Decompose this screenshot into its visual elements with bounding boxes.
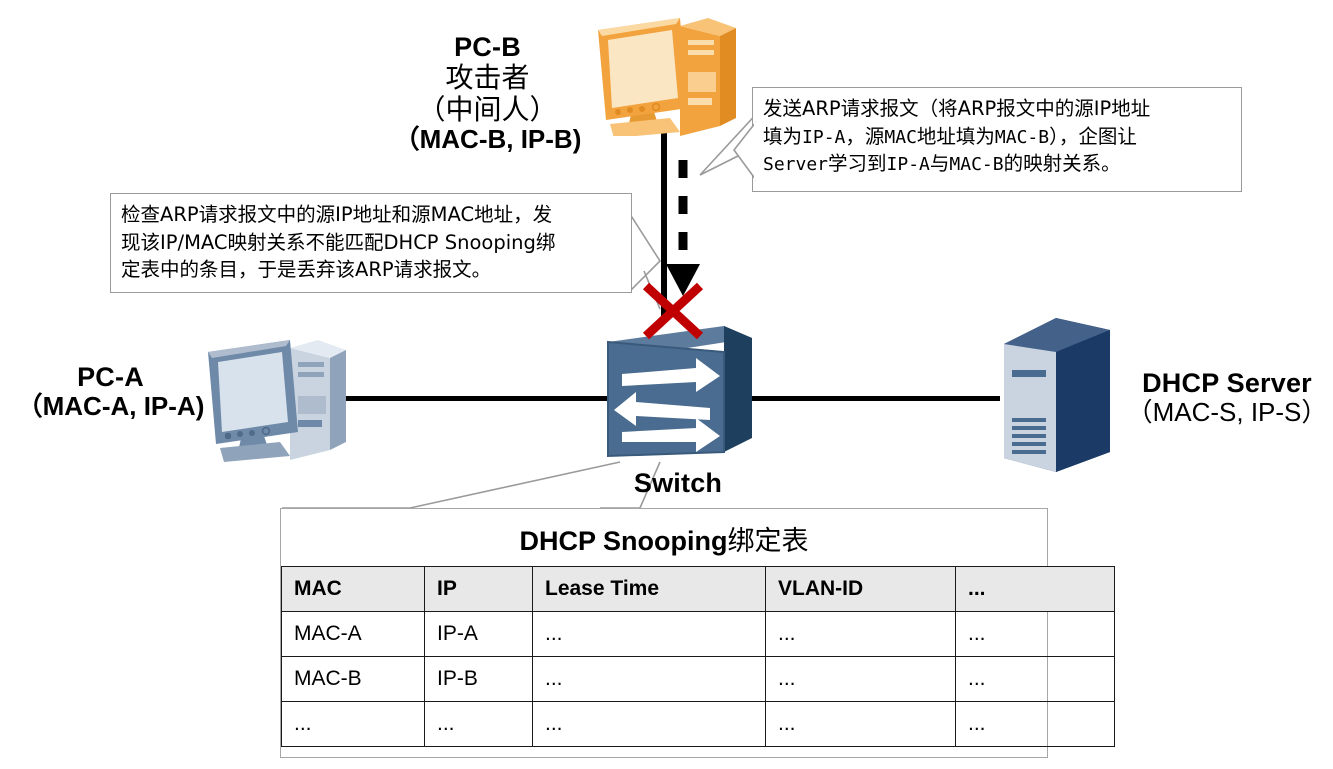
binding-table-title-main: DHCP Snooping (520, 526, 728, 556)
cell-ip: IP-A (425, 612, 533, 657)
table-row: MAC-A IP-A ... ... ... (282, 612, 1115, 657)
switch-label: Switch (598, 468, 758, 498)
cell-more: ... (956, 612, 1115, 657)
column-header-vlan-id: VLAN-ID (766, 567, 956, 612)
pc-a-label: PC-A （MAC-A, IP-A) (8, 362, 213, 421)
cell-mac: ... (282, 702, 425, 747)
pc-b-role: 攻击者 (380, 62, 595, 93)
pc-a-computer-icon (196, 334, 346, 462)
pc-b-label: PC-B 攻击者 （中间人） （MAC-B, IP-B) (380, 32, 595, 154)
table-row: ... ... ... ... ... (282, 702, 1115, 747)
pc-b-addresses: （MAC-B, IP-B) (380, 125, 595, 154)
cell-vlan: ... (766, 612, 956, 657)
cell-vlan: ... (766, 702, 956, 747)
dhcp-server-name: DHCP Server (1122, 368, 1332, 398)
cell-ip: ... (425, 702, 533, 747)
switch-device-icon (600, 312, 756, 464)
network-diagram-canvas: PC-B 攻击者 （中间人） （MAC-B, IP-B) PC-A （MAC-A… (0, 0, 1333, 769)
leader-table-left (282, 462, 620, 508)
check-line-1: 检查ARP请求报文中的源IP地址和源MAC地址，发 (121, 201, 622, 229)
table-row: MAC-B IP-B ... ... ... (282, 657, 1115, 702)
column-header-mac: MAC (282, 567, 425, 612)
cable-pca-to-switch (330, 396, 620, 401)
dhcp-snooping-binding-table: MAC IP Lease Time VLAN-ID ... MAC-A IP-A… (281, 566, 1115, 747)
cell-more: ... (956, 702, 1115, 747)
arp-attack-line-1: 发送ARP请求报文（将ARP报文中的源IP地址 (763, 95, 1232, 123)
pc-b-computer-icon (588, 14, 736, 136)
column-header-lease: Lease Time (533, 567, 766, 612)
column-header-ip: IP (425, 567, 533, 612)
dashed-attack-arrow-head (666, 264, 700, 296)
pc-a-addresses: （MAC-A, IP-A) (8, 392, 213, 421)
dhcp-snooping-binding-table-panel: DHCP Snooping绑定表 MAC IP Lease Time VLAN-… (280, 508, 1048, 758)
binding-table-title: DHCP Snooping绑定表 (281, 509, 1047, 566)
cell-lease: ... (533, 702, 766, 747)
cell-lease: ... (533, 657, 766, 702)
table-header-row: MAC IP Lease Time VLAN-ID ... (282, 567, 1115, 612)
arp-attack-line-2: 填为IP-A，源MAC地址填为MAC-B），企图让 (763, 123, 1232, 151)
cell-vlan: ... (766, 657, 956, 702)
cable-switch-to-server (752, 396, 1000, 401)
arp-attack-callout: 发送ARP请求报文（将ARP报文中的源IP地址 填为IP-A，源MAC地址填为M… (752, 87, 1242, 192)
check-line-2: 现该IP/MAC映射关系不能匹配DHCP Snooping绑 (121, 229, 622, 257)
dhcp-server-icon (994, 300, 1114, 472)
cell-mac: MAC-A (282, 612, 425, 657)
arp-attack-line-3: Server学习到IP-A与MAC-B的映射关系。 (763, 150, 1232, 178)
arp-attack-callout-tail (732, 120, 758, 182)
pc-a-name: PC-A (8, 362, 213, 392)
pc-b-name: PC-B (380, 32, 595, 62)
pc-b-role-detail: （中间人） (380, 94, 595, 125)
cell-ip: IP-B (425, 657, 533, 702)
cell-mac: MAC-B (282, 657, 425, 702)
dhcp-snooping-check-callout: 检查ARP请求报文中的源IP地址和源MAC地址，发 现该IP/MAC映射关系不能… (110, 193, 632, 293)
column-header-more: ... (956, 567, 1115, 612)
cell-lease: ... (533, 612, 766, 657)
dhcp-server-label: DHCP Server （MAC-S, IP-S） (1122, 368, 1332, 427)
cell-more: ... (956, 657, 1115, 702)
dhcp-server-addresses: （MAC-S, IP-S） (1122, 398, 1332, 427)
check-line-3: 定表中的条目，于是丢弃该ARP请求报文。 (121, 256, 622, 284)
binding-table-title-suffix: 绑定表 (727, 526, 808, 557)
